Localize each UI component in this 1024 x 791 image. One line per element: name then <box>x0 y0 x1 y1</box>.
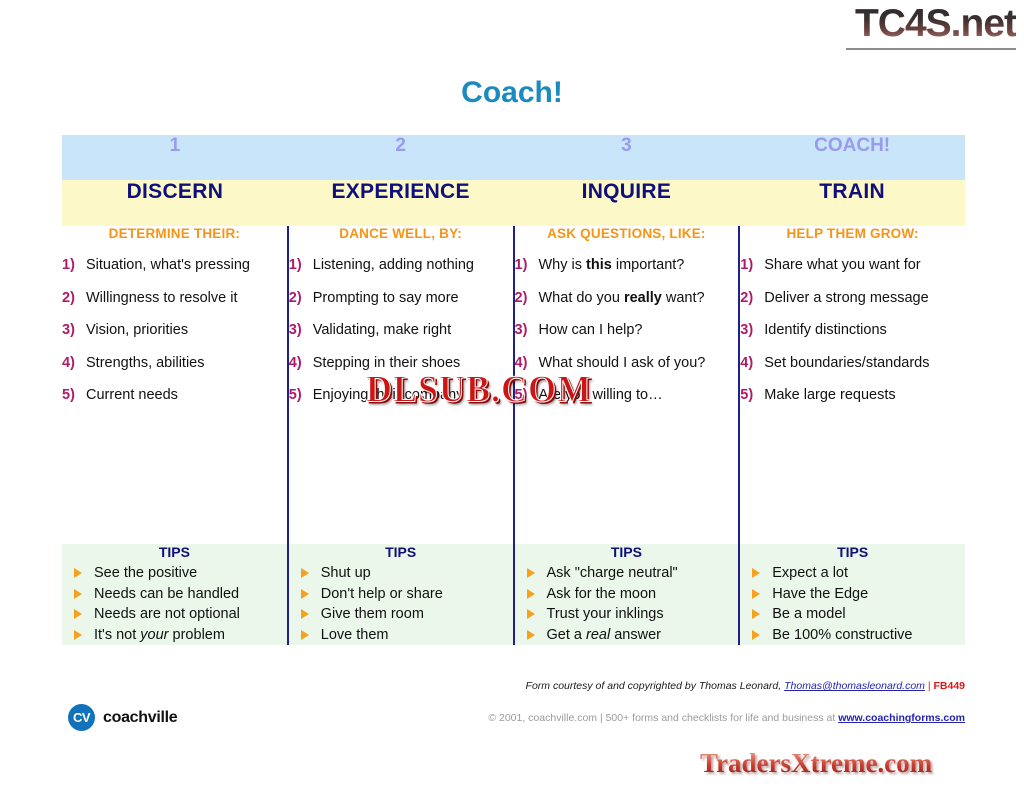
tips-title: TIPS <box>62 544 287 560</box>
coachville-logo[interactable]: CV coachville <box>68 704 177 731</box>
item-number: 4) <box>289 354 302 373</box>
item-number: 2) <box>515 289 528 308</box>
tip-text: Trust your inklings <box>547 606 664 622</box>
triangle-bullet-icon <box>752 589 760 599</box>
tip-text: Ask for the moon <box>547 586 657 602</box>
item-number: 4) <box>740 354 753 373</box>
item-text: Set boundaries/standards <box>764 355 929 371</box>
triangle-bullet-icon <box>752 568 760 578</box>
tip-text: Shut up <box>321 565 371 581</box>
tip-item: Be 100% constructive <box>752 625 965 646</box>
triangle-bullet-icon <box>527 568 535 578</box>
column-subhead-1: DETERMINE THEIR: <box>62 226 287 241</box>
triangle-bullet-icon <box>527 630 535 640</box>
tips-row: TIPS See the positive Needs can be handl… <box>62 544 965 645</box>
column-title-experience: EXPERIENCE <box>288 180 514 226</box>
item-number: 2) <box>289 289 302 308</box>
tip-item: Be a model <box>752 604 965 625</box>
tip-item: Expect a lot <box>752 563 965 584</box>
triangle-bullet-icon <box>301 630 309 640</box>
coachville-wordmark: coachville <box>103 709 177 727</box>
triangle-bullet-icon <box>752 630 760 640</box>
item-text: What do you really want? <box>539 290 705 306</box>
list-item: 2)Deliver a strong message <box>740 289 965 308</box>
item-text: Identify distinctions <box>764 322 887 338</box>
column-title-train: TRAIN <box>739 180 965 226</box>
column-title-row: DISCERN EXPERIENCE INQUIRE TRAIN <box>62 180 965 226</box>
tips-cell-4: TIPS Expect a lot Have the Edge Be a mod… <box>739 544 965 645</box>
column-body-1: DETERMINE THEIR: 1)Situation, what's pre… <box>62 226 288 544</box>
list-item: 4)Set boundaries/standards <box>740 354 965 373</box>
tips-list-2: Shut up Don't help or share Give them ro… <box>289 563 513 645</box>
tip-item: Don't help or share <box>301 584 513 605</box>
tip-item: Give them room <box>301 604 513 625</box>
column-number-row: 1 2 3 COACH! <box>62 135 965 180</box>
column-number-4: COACH! <box>739 135 965 180</box>
author-email-link[interactable]: Thomas@thomasleonard.com <box>784 680 925 692</box>
tip-text: Expect a lot <box>772 565 848 581</box>
list-item: 1)Why is this important? <box>515 256 739 275</box>
tips-cell-1: TIPS See the positive Needs can be handl… <box>62 544 288 645</box>
item-number: 3) <box>740 321 753 340</box>
item-number: 1) <box>515 256 528 275</box>
column-title-discern: DISCERN <box>62 180 288 226</box>
header-rule <box>846 48 1016 50</box>
list-item: 1)Situation, what's pressing <box>62 256 287 275</box>
list-item: 3)Vision, priorities <box>62 321 287 340</box>
tip-text: Needs are not optional <box>94 606 240 622</box>
column-subhead-3: ASK QUESTIONS, LIKE: <box>515 226 739 241</box>
tip-text: Get a real answer <box>547 627 661 643</box>
item-number: 5) <box>740 386 753 405</box>
tip-text: Have the Edge <box>772 586 868 602</box>
cv-badge-icon: CV <box>68 704 95 731</box>
tip-text: It's not your problem <box>94 627 225 643</box>
tc4s-logo: TC4S.net <box>855 2 1016 46</box>
tip-item: See the positive <box>74 563 287 584</box>
item-text: Validating, make right <box>313 322 451 338</box>
tips-title: TIPS <box>740 544 965 560</box>
list-item: 2)Prompting to say more <box>289 289 513 308</box>
item-text: Make large requests <box>764 387 895 403</box>
tips-list-4: Expect a lot Have the Edge Be a model Be… <box>740 563 965 645</box>
tips-cell-2: TIPS Shut up Don't help or share Give th… <box>288 544 514 645</box>
item-text: Deliver a strong message <box>764 290 928 306</box>
tip-text: Needs can be handled <box>94 586 239 602</box>
credit-prefix: Form courtesy of and copyrighted by Thom… <box>526 680 785 692</box>
item-number: 1) <box>62 256 75 275</box>
credit-line: Form courtesy of and copyrighted by Thom… <box>0 680 965 692</box>
item-text: Situation, what's pressing <box>86 257 250 273</box>
tip-item: Get a real answer <box>527 625 739 646</box>
tip-text: Don't help or share <box>321 586 443 602</box>
tip-item: Love them <box>301 625 513 646</box>
tip-item: Trust your inklings <box>527 604 739 625</box>
item-number: 3) <box>289 321 302 340</box>
list-item: 4)Strengths, abilities <box>62 354 287 373</box>
triangle-bullet-icon <box>527 589 535 599</box>
list-item: 1)Share what you want for <box>740 256 965 275</box>
list-item: 2)What do you really want? <box>515 289 739 308</box>
tips-title: TIPS <box>515 544 739 560</box>
item-text: How can I help? <box>539 322 643 338</box>
column-subhead-4: HELP THEM GROW: <box>740 226 965 241</box>
copyright-text: © 2001, coachville.com | 500+ forms and … <box>488 712 838 724</box>
tip-text: Ask "charge neutral" <box>547 565 678 581</box>
triangle-bullet-icon <box>527 609 535 619</box>
item-number: 5) <box>62 386 75 405</box>
column-number-2: 2 <box>288 135 514 180</box>
item-number: 2) <box>62 289 75 308</box>
column-number-3: 3 <box>514 135 740 180</box>
tip-text: Give them room <box>321 606 424 622</box>
tips-title: TIPS <box>289 544 513 560</box>
item-text: Current needs <box>86 387 178 403</box>
item-number: 5) <box>289 386 302 405</box>
item-number: 1) <box>740 256 753 275</box>
tip-item: Ask "charge neutral" <box>527 563 739 584</box>
form-code: FB449 <box>933 680 965 692</box>
item-text: Listening, adding nothing <box>313 257 474 273</box>
page-title: Coach! <box>0 76 1024 110</box>
item-text: Strengths, abilities <box>86 355 204 371</box>
column-body-4: HELP THEM GROW: 1)Share what you want fo… <box>739 226 965 544</box>
column-subhead-2: DANCE WELL, BY: <box>289 226 513 241</box>
tip-item: Needs are not optional <box>74 604 287 625</box>
triangle-bullet-icon <box>301 609 309 619</box>
item-number: 1) <box>289 256 302 275</box>
list-item: 5)Current needs <box>62 386 287 405</box>
triangle-bullet-icon <box>301 568 309 578</box>
tips-list-1: See the positive Needs can be handled Ne… <box>62 563 287 645</box>
tips-list-3: Ask "charge neutral" Ask for the moon Tr… <box>515 563 739 645</box>
item-text: Vision, priorities <box>86 322 188 338</box>
column-number-1: 1 <box>62 135 288 180</box>
list-item: 5)Make large requests <box>740 386 965 405</box>
tradersxtreme-watermark: TradersXtreme.com <box>700 748 932 779</box>
tip-text: Be 100% constructive <box>772 627 912 643</box>
tips-cell-3: TIPS Ask "charge neutral" Ask for the mo… <box>514 544 740 645</box>
list-item: 2)Willingness to resolve it <box>62 289 287 308</box>
dlsub-watermark: DLSUB.COM <box>366 367 592 411</box>
item-list-4: 1)Share what you want for 2)Deliver a st… <box>740 256 965 405</box>
triangle-bullet-icon <box>74 568 82 578</box>
tip-item: It's not your problem <box>74 625 287 646</box>
list-item: 3)How can I help? <box>515 321 739 340</box>
tip-item: Shut up <box>301 563 513 584</box>
list-item: 3)Validating, make right <box>289 321 513 340</box>
item-number: 2) <box>740 289 753 308</box>
coachingforms-link[interactable]: www.coachingforms.com <box>838 712 965 724</box>
triangle-bullet-icon <box>74 609 82 619</box>
triangle-bullet-icon <box>752 609 760 619</box>
tip-item: Needs can be handled <box>74 584 287 605</box>
tip-text: See the positive <box>94 565 197 581</box>
item-number: 3) <box>515 321 528 340</box>
tip-text: Be a model <box>772 606 845 622</box>
item-list-1: 1)Situation, what's pressing 2)Willingne… <box>62 256 287 405</box>
column-title-inquire: INQUIRE <box>514 180 740 226</box>
list-item: 1)Listening, adding nothing <box>289 256 513 275</box>
tip-text: Love them <box>321 627 389 643</box>
item-text: Share what you want for <box>764 257 920 273</box>
triangle-bullet-icon <box>74 630 82 640</box>
item-text: Prompting to say more <box>313 290 459 306</box>
item-number: 3) <box>62 321 75 340</box>
tip-item: Ask for the moon <box>527 584 739 605</box>
item-text: Why is this important? <box>539 257 685 273</box>
item-text: Willingness to resolve it <box>86 290 238 306</box>
triangle-bullet-icon <box>301 589 309 599</box>
item-number: 4) <box>62 354 75 373</box>
tip-item: Have the Edge <box>752 584 965 605</box>
list-item: 3)Identify distinctions <box>740 321 965 340</box>
triangle-bullet-icon <box>74 589 82 599</box>
